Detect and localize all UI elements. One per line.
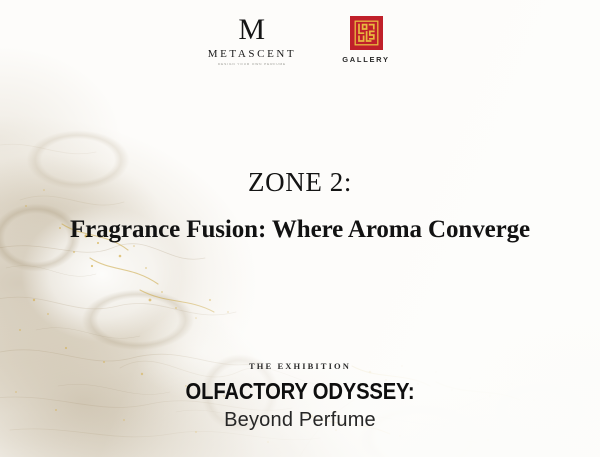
zone-label: ZONE 2:: [0, 168, 600, 198]
zone-title-block: ZONE 2: Fragrance Fusion: Where Aroma Co…: [0, 168, 600, 244]
exhibition-tagline: Beyond Perfume: [0, 409, 600, 432]
lotus-gallery-logo: GALLERY: [336, 16, 396, 64]
presentation-slide: M METASCENT DESIGN YOUR OWN PERFUME: [0, 0, 600, 457]
metascent-logo: M METASCENT DESIGN YOUR OWN PERFUME: [204, 16, 300, 66]
zone-subtitle: Fragrance Fusion: Where Aroma Converge: [0, 216, 600, 245]
metascent-tagline: DESIGN YOUR OWN PERFUME: [218, 62, 286, 66]
metascent-wordmark: METASCENT: [208, 48, 297, 60]
metascent-m-monogram-icon: M: [238, 16, 265, 45]
exhibition-name: OLFACTORY ODYSSEY:: [36, 378, 564, 405]
exhibition-block: THE EXHIBITION OLFACTORY ODYSSEY: Beyond…: [0, 361, 600, 432]
exhibition-kicker: THE EXHIBITION: [0, 361, 600, 371]
lotus-monogram-icon: [350, 16, 383, 50]
lotus-gallery-wordmark: GALLERY: [342, 55, 389, 64]
slide-content: M METASCENT DESIGN YOUR OWN PERFUME: [0, 0, 600, 457]
logo-bar: M METASCENT DESIGN YOUR OWN PERFUME: [0, 16, 600, 66]
